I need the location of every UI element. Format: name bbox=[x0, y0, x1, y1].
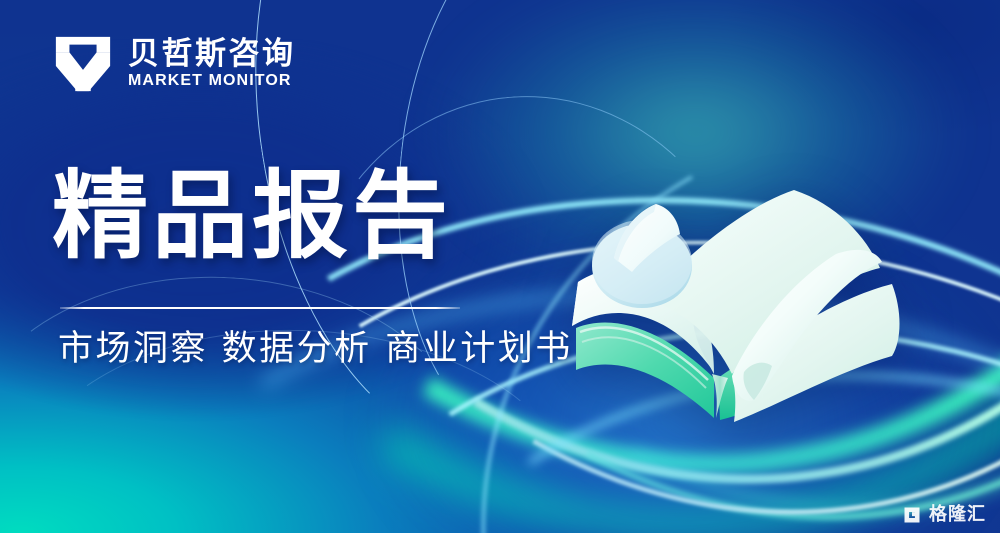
brand-logo[interactable]: 贝哲斯咨询 MARKET MONITOR bbox=[52, 33, 296, 95]
market-monitor-m-icon bbox=[52, 33, 114, 95]
subtitle: 市场洞察 数据分析 商业计划书 bbox=[58, 328, 573, 372]
watermark-text: 格隆汇 bbox=[929, 506, 986, 524]
report-banner: 贝哲斯咨询 MARKET MONITOR 精品报告 市场洞察 数据分析 商业计划… bbox=[0, 0, 1000, 533]
title-divider bbox=[60, 307, 460, 309]
gelonghui-g-icon bbox=[902, 505, 922, 525]
open-book-3d-illustration bbox=[536, 150, 936, 440]
brand-name-cn: 贝哲斯咨询 bbox=[128, 39, 296, 70]
source-watermark: 格隆汇 bbox=[902, 505, 986, 525]
brand-name-en: MARKET MONITOR bbox=[128, 73, 296, 89]
page-title: 精品报告 bbox=[52, 165, 452, 269]
brand-logo-text: 贝哲斯咨询 MARKET MONITOR bbox=[128, 39, 296, 89]
